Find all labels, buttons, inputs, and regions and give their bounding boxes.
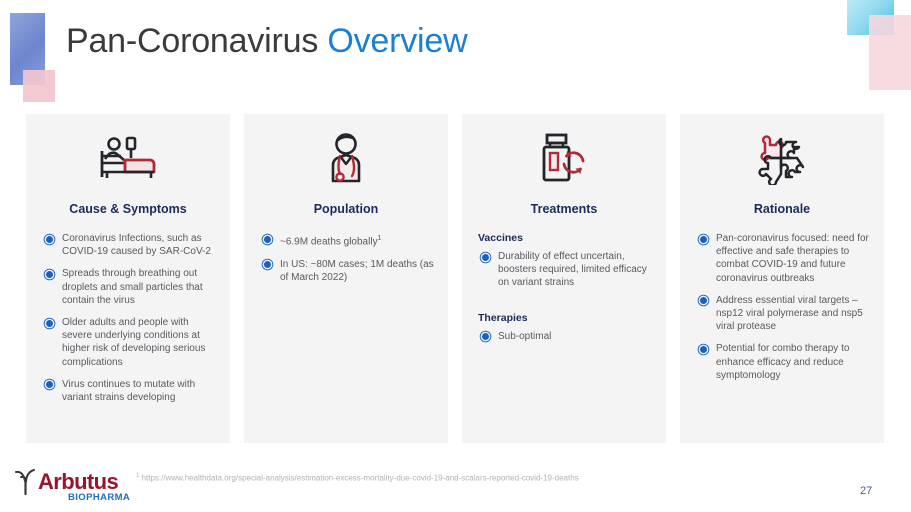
logo-tagline: BIOPHARMA xyxy=(68,492,130,503)
list-item: Sub-optimal xyxy=(476,330,652,343)
list-item: Coronavirus Infections, such as COVID-19… xyxy=(40,232,216,258)
hospital-bed-patient-icon xyxy=(40,114,216,190)
section-heading-vaccines: Vaccines xyxy=(478,232,652,244)
bullet-list: Pan-coronavirus focused: need for effect… xyxy=(694,232,870,382)
page-title-accent: Overview xyxy=(327,22,467,60)
card-title: Population xyxy=(258,202,434,216)
decor-top-left-pink-square xyxy=(23,70,55,102)
bullet-list-therapies: Sub-optimal xyxy=(476,330,652,343)
list-item: ~6.9M deaths globally1 xyxy=(258,232,434,249)
list-item: Spreads through breathing out droplets a… xyxy=(40,267,216,307)
card-cause-symptoms: Cause & Symptoms Coronavirus Infections,… xyxy=(26,114,230,443)
footnote-text: https://www.healthdata.org/special-analy… xyxy=(139,474,578,483)
arbutus-logo: Arbutus BIOPHARMA xyxy=(10,468,128,508)
card-title: Treatments xyxy=(476,202,652,216)
section-heading-therapies: Therapies xyxy=(478,312,652,324)
list-item: Durability of effect uncertain, boosters… xyxy=(476,250,652,290)
card-grid: Cause & Symptoms Coronavirus Infections,… xyxy=(26,114,885,443)
decor-top-right-pink-rect xyxy=(869,15,911,90)
bullet-list-vaccines: Durability of effect uncertain, boosters… xyxy=(476,250,652,290)
card-title: Rationale xyxy=(694,202,870,216)
list-item: Virus continues to mutate with variant s… xyxy=(40,378,216,404)
page-title-main: Pan-Coronavirus xyxy=(66,22,327,60)
list-item: Potential for combo therapy to enhance e… xyxy=(694,342,870,382)
list-item: Address essential viral targets – nsp12 … xyxy=(694,294,870,334)
puzzle-pieces-icon xyxy=(694,114,870,190)
bullet-list: Coronavirus Infections, such as COVID-19… xyxy=(40,232,216,404)
card-title: Cause & Symptoms xyxy=(40,202,216,216)
decor-top-right-cyan-square xyxy=(847,0,894,35)
list-item: In US: ~80M cases; 1M deaths (as of Marc… xyxy=(258,258,434,284)
footnote-marker: 1 xyxy=(378,235,382,242)
doctor-stethoscope-icon xyxy=(258,114,434,190)
list-item: Pan-coronavirus focused: need for effect… xyxy=(694,232,870,285)
card-population: Population ~6.9M deaths globally1 In US:… xyxy=(244,114,448,443)
pill-bottle-refresh-icon xyxy=(476,114,652,190)
list-item: Older adults and people with severe unde… xyxy=(40,316,216,369)
page-number: 27 xyxy=(860,485,872,497)
bullet-list: ~6.9M deaths globally1 In US: ~80M cases… xyxy=(258,232,434,284)
card-rationale: Rationale Pan-coronavirus focused: need … xyxy=(680,114,884,443)
footnote-citation: 1 https://www.healthdata.org/special-ana… xyxy=(136,473,579,483)
list-item-text: ~6.9M deaths globally xyxy=(280,236,378,247)
card-treatments: Treatments Vaccines Durability of effect… xyxy=(462,114,666,443)
decor-top-left-blue-rect xyxy=(10,13,45,85)
page-title: Pan-Coronavirus Overview xyxy=(66,22,467,61)
